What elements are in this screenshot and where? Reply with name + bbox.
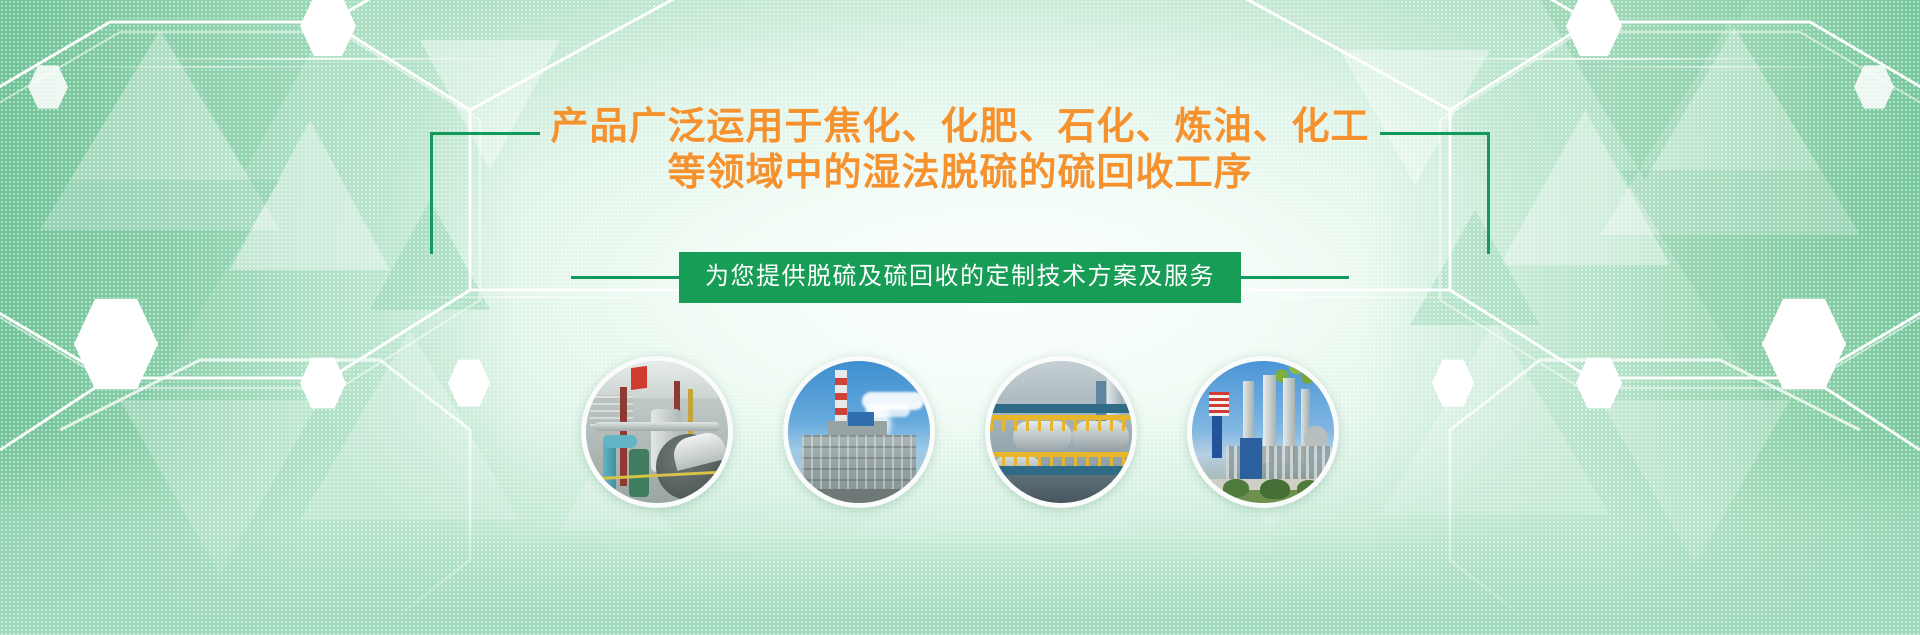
subbar-block: 为您提供脱硫及硫回收的定制技术方案及服务 [0,252,1920,303]
subbar-rule-left [571,276,679,279]
banner-stage: 产品广泛运用于焦化、化肥、石化、炼油、化工 等领域中的湿法脱硫的硫回收工序 为您… [0,0,1920,635]
photo-strip [0,356,1920,508]
headline-block: 产品广泛运用于焦化、化肥、石化、炼油、化工 等领域中的湿法脱硫的硫回收工序 [0,104,1920,196]
photo-plant-striped-stack[interactable] [783,356,935,508]
photo-horizontal-tanks[interactable] [985,356,1137,508]
headline-line-1: 产品广泛运用于焦化、化肥、石化、炼油、化工 [550,104,1369,150]
photo-distillation-towers[interactable] [1187,356,1339,508]
bracket-right [1380,104,1490,105]
subbar-text: 为您提供脱硫及硫回收的定制技术方案及服务 [679,252,1241,303]
photo-refinery-pipe-rack[interactable] [581,356,733,508]
banner-content: 产品广泛运用于焦化、化肥、石化、炼油、化工 等领域中的湿法脱硫的硫回收工序 为您… [0,0,1920,635]
headline-text: 产品广泛运用于焦化、化肥、石化、炼油、化工 等领域中的湿法脱硫的硫回收工序 [540,104,1379,196]
subbar-rule-right [1241,276,1349,279]
headline-line-2: 等领域中的湿法脱硫的硫回收工序 [550,150,1369,196]
bracket-left [430,104,540,105]
